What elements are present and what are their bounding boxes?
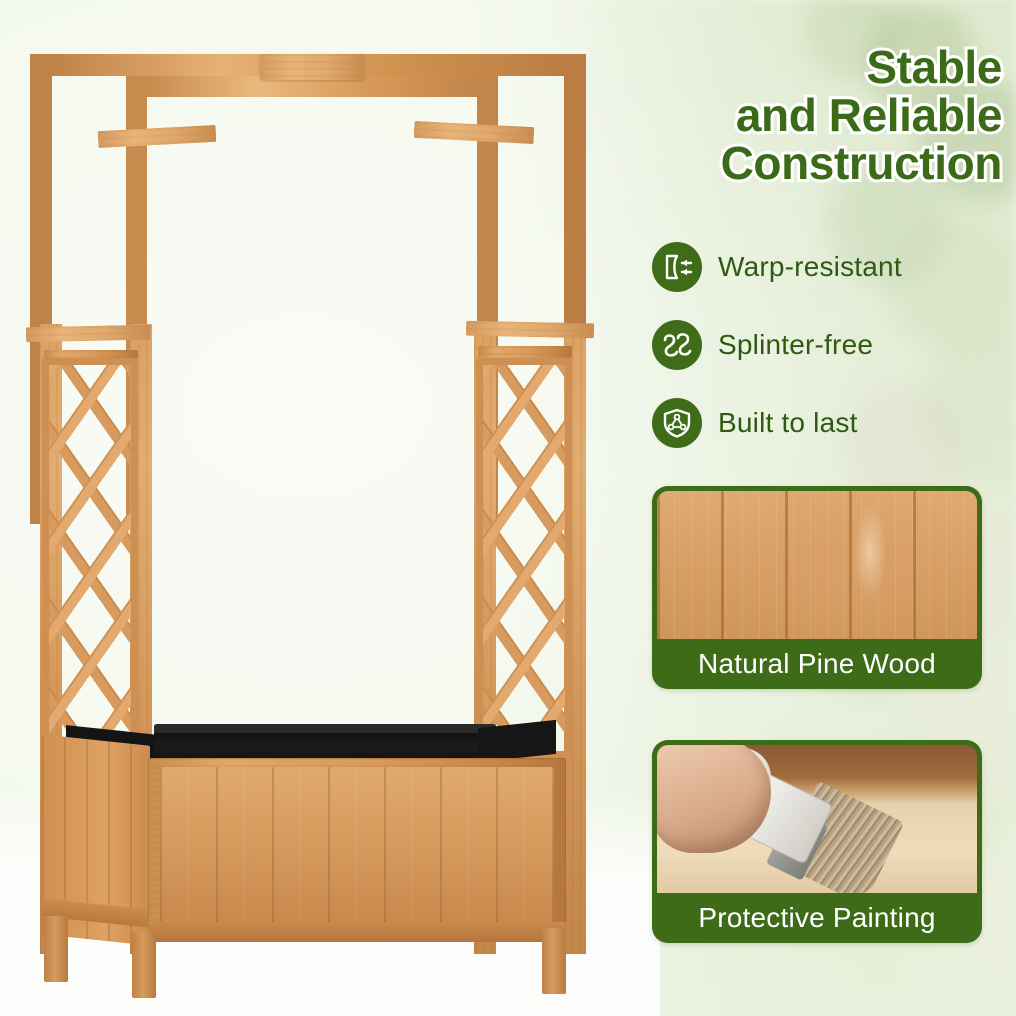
feature-warp-resistant: Warp-resistant bbox=[652, 228, 1002, 306]
left-lattice-frame bbox=[42, 358, 138, 758]
wood-grain-knot bbox=[847, 497, 893, 633]
warp-resistant-icon bbox=[652, 242, 702, 292]
splinter-free-icon bbox=[652, 320, 702, 370]
headline-line-1: Stable bbox=[602, 44, 1002, 92]
card-protective-painting: Protective Painting bbox=[652, 740, 982, 943]
headline-line-2: and Reliable bbox=[602, 92, 1002, 140]
shield-durability-icon bbox=[652, 398, 702, 448]
card-caption: Natural Pine Wood bbox=[657, 639, 977, 689]
headline: Stable and Reliable Construction bbox=[602, 44, 1002, 187]
card-natural-pine-wood: Natural Pine Wood bbox=[652, 486, 982, 689]
feature-label: Splinter-free bbox=[718, 329, 873, 361]
headline-line-3: Construction bbox=[602, 140, 1002, 188]
card-caption: Protective Painting bbox=[657, 893, 977, 943]
product-marketing-image: Stable and Reliable Construction Warp-re… bbox=[0, 0, 1016, 1016]
planter-box-front bbox=[148, 758, 566, 940]
leg-front-left bbox=[44, 916, 68, 982]
planter-box-base-rail bbox=[148, 922, 566, 942]
arch-keystone-block bbox=[260, 54, 364, 80]
right-second-rail bbox=[478, 346, 572, 358]
feature-built-to-last: Built to last bbox=[652, 384, 1002, 462]
wood-texture bbox=[657, 491, 977, 639]
planter-liner-lip bbox=[154, 724, 496, 733]
left-top-rail bbox=[26, 325, 150, 343]
leg-back-left bbox=[132, 932, 156, 998]
feature-label: Built to last bbox=[718, 407, 858, 439]
paintbrush-scene bbox=[657, 745, 977, 893]
feature-label: Warp-resistant bbox=[718, 251, 902, 283]
feature-splinter-free: Splinter-free bbox=[652, 306, 1002, 384]
pine-wood-planks-photo bbox=[657, 491, 977, 639]
leg-front-right bbox=[542, 928, 566, 994]
planter-box-planks bbox=[160, 767, 554, 922]
right-top-rail bbox=[466, 321, 594, 339]
right-lattice-frame bbox=[476, 358, 572, 758]
feature-list: Warp-resistant Splinter-free bbox=[652, 228, 1002, 462]
product-image-arbor-planter bbox=[8, 24, 618, 984]
paintbrush-on-wood-photo bbox=[657, 745, 977, 893]
